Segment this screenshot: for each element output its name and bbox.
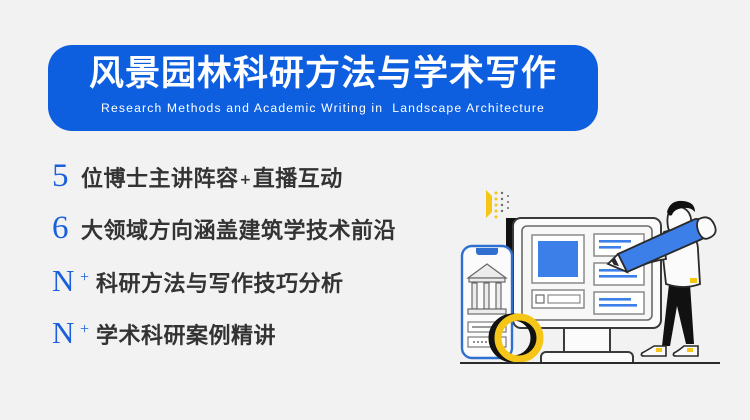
smartphone-notch — [476, 248, 498, 255]
feature-item-3: N + 科研方法与写作技巧分析 — [52, 264, 472, 316]
feature-plus-4: + — [80, 322, 89, 338]
monitor-stand-neck — [564, 328, 610, 352]
feature-text-3: 科研方法与写作技巧分析 — [96, 271, 344, 297]
feature-marker-2: 6 — [52, 212, 78, 245]
feature-marker-3: N — [52, 264, 78, 297]
feature-item-4: N + 学术科研案例精讲 — [52, 316, 472, 368]
banner-subtitle: Research Methods and Academic Writing in… — [101, 99, 545, 117]
monitor-search-bar-field — [548, 295, 580, 303]
monitor-text-card-line — [599, 240, 631, 243]
feature-text-4: 学术科研案例精讲 — [96, 323, 276, 349]
feature-text-1: 位博士主讲阵容+直播互动 — [81, 166, 343, 193]
feature-text-1-plus: + — [239, 172, 253, 188]
hero-illustration — [458, 178, 750, 378]
monitor-image-placeholder — [538, 241, 578, 277]
poster-canvas: 风景园林科研方法与学术写作 Research Methods and Acade… — [0, 0, 750, 420]
banner-title: 风景园林科研方法与学术写作 — [89, 52, 557, 96]
feature-marker-1: 5 — [52, 160, 78, 193]
feature-plus-3: + — [80, 270, 89, 286]
feature-list: 5 位博士主讲阵容+直播互动 6 大领域方向涵盖建筑学技术前沿 N + 科研方法… — [52, 160, 472, 368]
feature-marker-4: N — [52, 316, 78, 349]
monitor-text-card[interactable] — [594, 292, 644, 314]
monitor-text-card-line — [599, 246, 621, 249]
feature-text-1-after: 直播互动 — [253, 166, 343, 192]
feature-text-1-before: 位博士主讲阵容 — [81, 166, 239, 192]
title-banner: 风景园林科研方法与学术写作 Research Methods and Acade… — [48, 45, 598, 131]
yellow-dot-burst-icon — [486, 190, 509, 219]
monitor-search-bar-box — [536, 295, 544, 303]
feature-text-2: 大领域方向涵盖建筑学技术前沿 — [81, 218, 396, 244]
monitor-text-card-line — [599, 275, 637, 278]
monitor-text-card-line — [599, 298, 631, 301]
feature-item-1: 5 位博士主讲阵容+直播互动 — [52, 160, 472, 212]
monitor-text-card-line — [599, 304, 637, 307]
monitor-stand-base — [541, 352, 633, 363]
feature-item-2: 6 大领域方向涵盖建筑学技术前沿 — [52, 212, 472, 264]
